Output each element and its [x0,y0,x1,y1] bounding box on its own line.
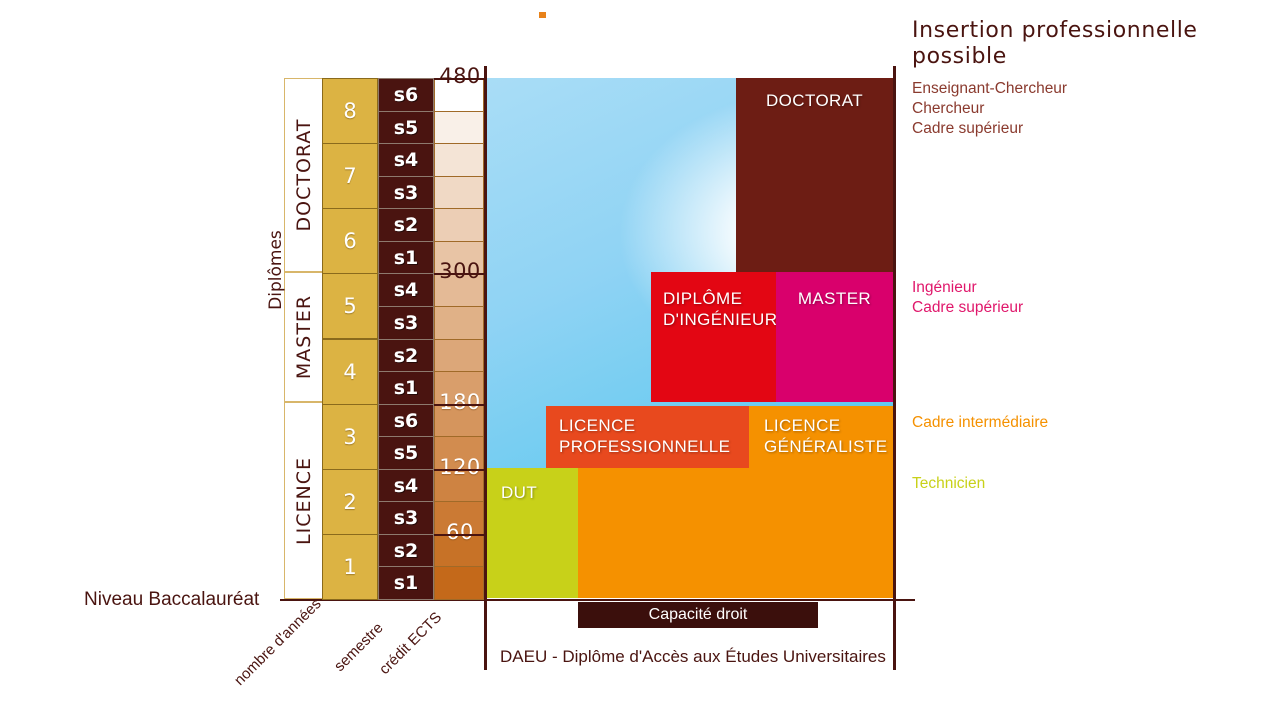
career-item: Cadre supérieur [912,119,1242,139]
ects-tick-line [434,273,486,275]
semester-cell: s5 [378,436,434,470]
year-cell: 2 [322,469,378,535]
block-licence-professionnelle[interactable]: LICENCE PROFESSIONNELLE [546,406,749,468]
block-diplome-ingenieur[interactable]: DIPLÔME D'INGÉNIEUR [651,272,776,402]
year-cell: 4 [322,339,378,405]
semester-cell: s6 [378,78,434,112]
semester-cell: s4 [378,143,434,177]
block-label-dut: DUT [501,482,578,503]
semester-cell: s2 [378,534,434,568]
career-item: Ingénieur [912,278,1242,298]
ects-tick-line [434,404,486,406]
block-label-licence-professionnelle: LICENCE PROFESSIONNELLE [559,415,743,457]
left-axis-line-lower [484,600,487,670]
semester-cell: s2 [378,208,434,242]
semester-cell: s3 [378,501,434,535]
ects-tick-label: 480 [429,64,491,88]
caption-credit-ects: crédit ECTS [376,609,445,678]
ects-tick-line [434,534,486,536]
level-tab-licence: LICENCE [284,402,322,599]
semester-cell: s2 [378,339,434,373]
niveau-baccalaureat-label: Niveau Baccalauréat [84,589,259,611]
careers-licence: Cadre intermédiaire [912,413,1242,433]
semester-cell: s4 [378,469,434,503]
semester-cell: s5 [378,111,434,145]
year-cell: 7 [322,143,378,209]
ects-cell [434,111,484,145]
block-licence-generaliste-lower[interactable] [578,468,893,598]
block-label-licence-generaliste: LICENCE GÉNÉRALISTE [764,415,887,457]
block-label-doctorat: DOCTORAT [736,90,893,111]
level-label-doctorat: DOCTORAT [293,119,315,232]
careers-doctorat: Enseignant-Chercheur Chercheur Cadre sup… [912,79,1242,139]
semester-cell: s1 [378,566,434,600]
ects-cell [434,208,484,242]
capacite-droit-bar[interactable]: Capacité droit [578,602,818,628]
axis-label-diplomes: Diplômes [266,225,296,315]
year-cell: 6 [322,208,378,274]
ects-tick-label: 60 [429,520,491,544]
stray-orange-mark [539,12,546,18]
ects-cell [434,143,484,177]
career-item: Chercheur [912,99,1242,119]
ects-cell [434,339,484,373]
block-dut[interactable]: DUT [487,468,578,598]
block-doctorat[interactable]: DOCTORAT [736,78,893,272]
year-cell: 1 [322,534,378,600]
career-item: Enseignant-Chercheur [912,79,1242,99]
daeu-label: DAEU - Diplôme d'Accès aux Études Univer… [500,647,886,667]
career-item: Technicien [912,474,1242,494]
ects-tick-label: 120 [429,455,491,479]
semester-cell: s1 [378,371,434,405]
semester-cell: s3 [378,306,434,340]
block-label-diplome-ingenieur: DIPLÔME D'INGÉNIEUR [663,288,770,330]
semester-column: s6s5s4s3s2s1s4s3s2s1s6s5s4s3s2s1 [378,78,434,599]
careers-master: Ingénieur Cadre supérieur [912,278,1242,318]
ects-tick-label: 300 [429,259,491,283]
right-panel-title: Insertion professionnelle possible [912,18,1212,70]
year-column: 87654321 [322,78,378,599]
right-axis-line [893,66,896,600]
year-cell: 5 [322,273,378,339]
right-axis-line-lower [893,600,896,670]
ects-tick-label: 180 [429,390,491,414]
year-cell: 3 [322,404,378,470]
ects-cell [434,306,484,340]
semester-cell: s1 [378,241,434,275]
semester-cell: s3 [378,176,434,210]
career-item: Cadre supérieur [912,298,1242,318]
careers-dut: Technicien [912,474,1242,494]
ects-cell [434,176,484,210]
ects-cell [434,566,484,600]
level-label-licence: LICENCE [293,457,315,545]
capacite-droit-label: Capacité droit [649,606,748,624]
ects-tick-line [434,78,486,80]
career-item: Cadre intermédiaire [912,413,1242,433]
semester-cell: s4 [378,273,434,307]
block-master[interactable]: MASTER [776,272,893,402]
semester-cell: s6 [378,404,434,438]
ects-tick-line [434,469,486,471]
year-cell: 8 [322,78,378,144]
block-label-master: MASTER [776,288,893,309]
